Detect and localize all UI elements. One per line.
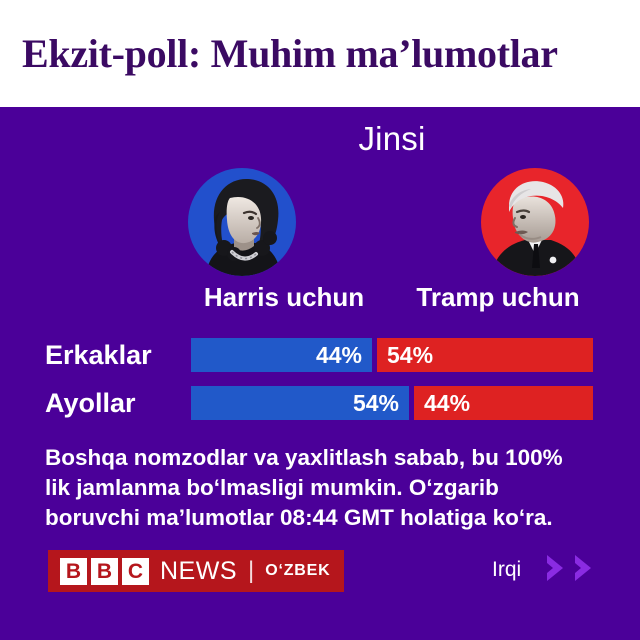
bar-row-label: Ayollar <box>45 386 136 420</box>
footnote-line-1: Boshqa nomzodlar va yaxlitlash sabab, bu… <box>45 443 605 473</box>
trump-photo <box>481 168 589 276</box>
candidate-label-harris: Harris uchun <box>191 282 377 313</box>
bbc-news-wordmark: NEWS <box>160 557 237 586</box>
bar-chart: Erkaklar 44% 54% Ayollar 54% 44% <box>0 338 640 434</box>
bbc-service-name: O‘ZBEK <box>265 562 330 580</box>
bbc-block-b2: B <box>91 558 118 585</box>
bar-track: 54% 44% <box>191 386 593 420</box>
harris-photo <box>188 168 296 276</box>
chevron-right-icon[interactable] <box>571 552 597 584</box>
footnote: Boshqa nomzodlar va yaxlitlash sabab, bu… <box>45 443 605 533</box>
bar-tramp: 54% <box>377 338 593 372</box>
bbc-block-c: C <box>122 558 149 585</box>
bar-value-tramp: 54% <box>387 342 433 369</box>
infographic-card: Ekzit-poll: Muhim ma’lumotlar Jinsi <box>0 0 640 640</box>
bbc-divider: | <box>248 557 254 585</box>
bbc-letter-blocks: B B C <box>60 558 149 585</box>
chevron-right-icon[interactable] <box>543 552 569 584</box>
bbc-block-b1: B <box>60 558 87 585</box>
candidate-label-trump: Tramp uchun <box>398 282 598 313</box>
bar-value-harris: 44% <box>316 342 362 369</box>
footnote-line-3: boruvchi ma’lumotlar 08:44 GMT holatiga … <box>45 503 605 533</box>
page-title: Ekzit-poll: Muhim ma’lumotlar <box>0 30 558 77</box>
bar-value-harris: 54% <box>353 390 399 417</box>
harris-portrait-icon <box>188 168 296 276</box>
trump-portrait-icon <box>481 168 589 276</box>
bar-row-erkaklar: Erkaklar 44% 54% <box>0 338 640 372</box>
footnote-line-2: lik jamlanma bo‘lmasligi mumkin. O‘zgari… <box>45 473 605 503</box>
bar-track: 44% 54% <box>191 338 593 372</box>
bar-value-tramp: 44% <box>424 390 470 417</box>
bar-row-label: Erkaklar <box>45 338 152 372</box>
bar-tramp: 44% <box>414 386 593 420</box>
candidate-trump <box>481 168 589 276</box>
bar-harris: 54% <box>191 386 409 420</box>
bbc-news-logo: B B C NEWS | O‘ZBEK <box>48 550 344 592</box>
bar-harris: 44% <box>191 338 372 372</box>
header-bar: Ekzit-poll: Muhim ma’lumotlar <box>0 0 640 107</box>
bar-row-ayollar: Ayollar 54% 44% <box>0 386 640 420</box>
candidate-harris <box>188 168 296 276</box>
next-slide-label: Irqi <box>492 558 521 582</box>
section-heading: Jinsi <box>191 120 593 158</box>
next-chevrons[interactable] <box>543 552 597 584</box>
